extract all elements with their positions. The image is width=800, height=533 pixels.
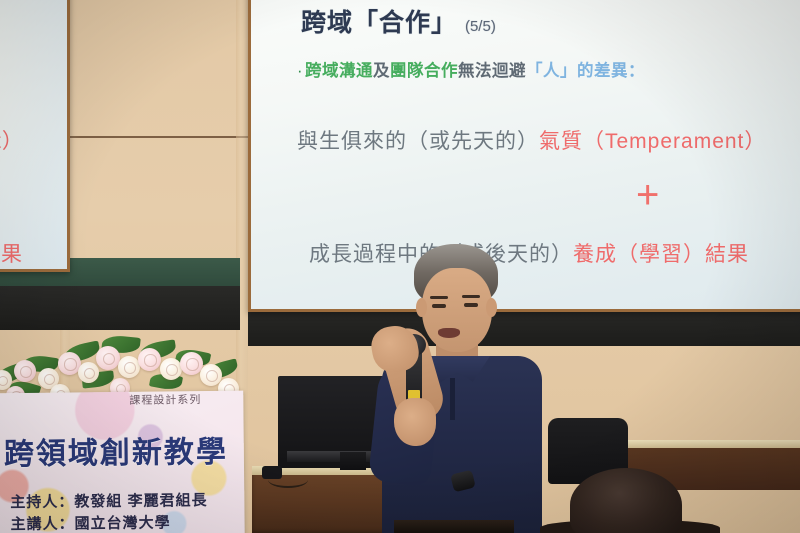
far-desk-top <box>600 440 800 448</box>
bullet-segment-green-2: 團隊合作 <box>390 62 458 80</box>
slide-page-ordinal: (5/5) <box>465 18 496 35</box>
plus-sign: + <box>636 175 659 215</box>
projection-screen-secondary: t） 果 <box>0 0 70 272</box>
slide-title: 跨域「合作」 (5/5) <box>301 3 496 39</box>
slide-fragment-result: 果 <box>1 238 23 268</box>
presenter-belt <box>394 520 514 533</box>
slide-title-text: 跨域「合作」 <box>301 9 457 37</box>
presenter-face <box>422 268 492 352</box>
slide-fragment-text: 果 <box>1 243 23 266</box>
presenter <box>366 244 576 533</box>
presenter-eyebrow <box>462 295 480 298</box>
bullet-segment-blue-tail: 的差異： <box>577 62 645 80</box>
poster-host-line: 主持人：教發組 李麗君組長 <box>10 489 207 512</box>
presenter-eye <box>464 303 478 307</box>
presenter-mic-hand <box>394 398 436 446</box>
bullet-segment-blue-person: 「人」 <box>526 62 577 80</box>
presenter-mouth <box>438 328 460 338</box>
slide-fragment-text: t） <box>0 130 24 153</box>
lecture-hall-photo: t） 果 跨域「合作」 (5/5) ·跨域溝通及團隊合作無法迴避「人」的差異： … <box>0 0 800 533</box>
presenter-ear <box>416 298 427 317</box>
event-poster: 課程設計系列 跨領域創新教學 主持人：教發組 李麗君組長 主講人：國立台灣大學 … <box>0 391 245 533</box>
poster-speaker-line: 主講人：國立台灣大學 <box>10 511 170 533</box>
cable <box>268 472 308 488</box>
presenter-eye <box>432 304 446 308</box>
slide-line-temperament-highlight: 氣質（Temperament） <box>539 130 766 153</box>
slide-secondary: t） 果 <box>0 0 67 269</box>
presenter-ear <box>486 298 497 317</box>
monitor-stand <box>340 452 366 470</box>
blackboard-dark-band <box>0 286 240 330</box>
presenter-placket <box>450 378 455 420</box>
poster-title: 跨領域創新教學 <box>4 427 228 473</box>
slide-fragment-temperament: t） <box>0 125 24 155</box>
projection-screen-secondary-surface: t） 果 <box>0 0 67 269</box>
poster-series-label: 課程設計系列 <box>129 391 201 408</box>
slide-line-temperament-prefix: 與生俱來的（或先天的） <box>297 130 539 153</box>
bullet-segment-gray-1: 及 <box>373 62 390 80</box>
slide-line-temperament: 與生俱來的（或先天的）氣質（Temperament） <box>297 125 766 155</box>
presenter-eyebrow <box>430 296 448 299</box>
slide-line-growth-highlight: 養成（學習）結果 <box>573 243 749 266</box>
bullet-segment-gray-2: 無法迴避 <box>458 62 526 80</box>
bullet-dot-icon: · <box>297 62 303 80</box>
audience-head <box>570 468 682 533</box>
slide-bullet-line: ·跨域溝通及團隊合作無法迴避「人」的差異： <box>297 57 645 81</box>
bullet-segment-green-1: 跨域溝通 <box>305 62 373 80</box>
